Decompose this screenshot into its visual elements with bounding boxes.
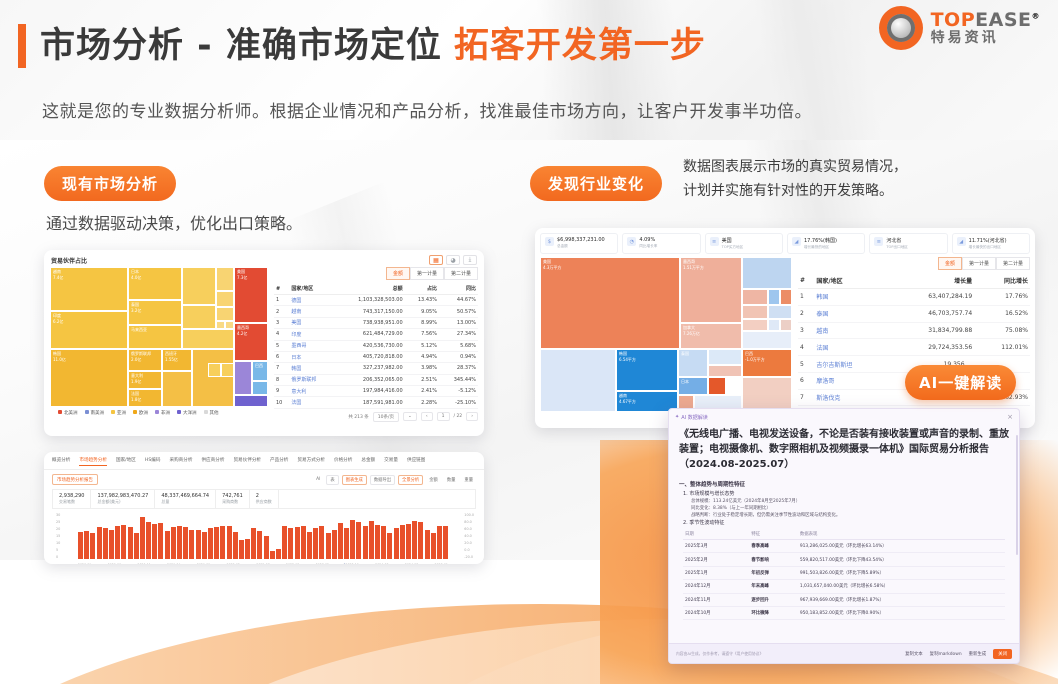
treemap-cell[interactable] bbox=[216, 291, 234, 307]
cell-data: 913,286,025.00美元（环比增长63.14%） bbox=[798, 540, 1005, 553]
col-feature: 特征 bbox=[749, 529, 797, 540]
tool-图表生成[interactable]: 图表生成 bbox=[342, 475, 367, 485]
cell-index: 8 bbox=[274, 374, 289, 385]
cell-country[interactable]: 法国 bbox=[814, 339, 887, 356]
table-row[interactable]: 1韩国63,407,284.1917.76% bbox=[798, 289, 1030, 306]
chart-icon: ◢ bbox=[957, 237, 966, 246]
x-tick: 2024-08 bbox=[405, 563, 418, 564]
y-tick: 30 bbox=[56, 513, 60, 517]
cell-share: 4.94% bbox=[405, 351, 439, 362]
measure-segmented-control[interactable]: 金额 第一计量 第二计量 bbox=[798, 257, 1030, 270]
treemap-cell-value: 4.0亿 bbox=[131, 275, 141, 280]
treemap-cell[interactable]: 马来西亚 bbox=[128, 325, 182, 349]
cell-feature: 逐步回升 bbox=[749, 593, 797, 606]
y-tick: 25 bbox=[56, 520, 60, 524]
footer-actions: 复制文本 复制markdown 重新生成 关闭 bbox=[905, 649, 1012, 659]
segment-first-measure[interactable]: 第一计量 bbox=[962, 257, 996, 270]
cell-country[interactable]: 美国 bbox=[289, 317, 332, 328]
badge-industry-change: 发现行业变化 bbox=[530, 166, 662, 201]
treemap-cell[interactable]: 墨西哥1.51万平方 bbox=[680, 257, 742, 323]
treemap-cell[interactable] bbox=[221, 363, 234, 377]
treemap-cell[interactable]: 加拿大7.26万亿 bbox=[680, 323, 742, 349]
copy-markdown-button[interactable]: 复制markdown bbox=[930, 651, 962, 657]
cell-total: 327,237,982.00 bbox=[333, 363, 405, 374]
tab-采购商分析[interactable]: 采购商分析 bbox=[169, 457, 192, 466]
tab-产品分析[interactable]: 产品分析 bbox=[270, 457, 288, 466]
filter-tag[interactable]: 市场趋势分析报告 bbox=[52, 474, 98, 485]
kpi-label: 增长最快的出口地区 bbox=[969, 245, 1001, 249]
treemap-cell[interactable] bbox=[216, 321, 225, 329]
ai-analysis-dialog[interactable]: ✦ AI 数据解读 × 《无线电广播、电视发送设备，不论是否装有接收装置或声音的… bbox=[668, 408, 1020, 664]
kpi-label: TOP出口地区 bbox=[886, 245, 908, 249]
cell-country[interactable]: 泰国 bbox=[814, 305, 887, 322]
close-button[interactable]: 关闭 bbox=[993, 649, 1012, 659]
cell-date: 2025年1月 bbox=[683, 566, 749, 579]
col-date: 日期 bbox=[683, 529, 749, 540]
logo-ring-icon bbox=[879, 6, 923, 50]
treemap-cell[interactable] bbox=[192, 349, 234, 407]
tool-AI[interactable]: AI bbox=[313, 476, 323, 483]
close-icon[interactable]: × bbox=[1007, 413, 1013, 421]
cell-index: 1 bbox=[798, 289, 814, 306]
cell-country[interactable]: 俄罗斯联邦 bbox=[289, 374, 332, 385]
y-tick: 10 bbox=[56, 541, 60, 545]
y-tick: 20 bbox=[56, 527, 60, 531]
cell-yoy-growth: 16.52% bbox=[974, 305, 1030, 322]
right-section-description: 数据图表展示市场的真实贸易情况， 计划并实施有针对性的开发策略。 bbox=[683, 155, 907, 203]
cell-total: 197,984,416.00 bbox=[333, 386, 405, 397]
tool-重量[interactable]: 重量 bbox=[461, 476, 476, 484]
cell-country[interactable]: 韩国 bbox=[814, 289, 887, 306]
treemap-cell[interactable] bbox=[234, 361, 252, 395]
treemap-cell-label: 马来西亚 bbox=[131, 327, 147, 332]
pager-prev[interactable]: ‹ bbox=[421, 412, 433, 421]
treemap-cell-label: 美国 bbox=[543, 259, 551, 264]
regenerate-button[interactable]: 重新生成 bbox=[969, 651, 987, 657]
cell-date: 2025年3月 bbox=[683, 540, 749, 553]
treemap-cell[interactable] bbox=[742, 377, 792, 412]
cell-total: 405,720,818.00 bbox=[333, 351, 405, 362]
table-row: 2025年3月春季高峰913,286,025.00美元（环比增长63.14%） bbox=[683, 540, 1005, 553]
logo-top-text: TOP bbox=[931, 9, 976, 31]
treemap-cell[interactable] bbox=[252, 381, 268, 395]
market-trend-panel[interactable]: 概览分析市场趋势分析国家/地区HS编码采购商分析供应商分析贸易伙伴分析产品分析贸… bbox=[44, 452, 484, 564]
pager-next[interactable]: › bbox=[466, 412, 478, 421]
kpi-card: $$6,998,337,231.00总金额 bbox=[540, 233, 618, 254]
tab-国家/地区[interactable]: 国家/地区 bbox=[116, 457, 136, 466]
cell-country[interactable]: 意大利 bbox=[289, 386, 332, 397]
cell-country[interactable]: 墨西哥 bbox=[289, 340, 332, 351]
ai-interpret-badge[interactable]: AI一键解读 bbox=[905, 365, 1016, 400]
kpi-card: ≡美国TOP买方地区 bbox=[705, 233, 783, 254]
table-row[interactable]: 1德国1,103,328,503.0013.43%44.67% bbox=[274, 295, 478, 306]
cell-data: 991,503,826.00美元（环比下降5.89%） bbox=[798, 566, 1005, 579]
treemap-cell-value: 1.8亿 bbox=[131, 397, 141, 402]
treemap-cell-label: 日本 bbox=[131, 269, 139, 274]
right-desc-line1: 数据图表展示市场的真实贸易情况， bbox=[683, 155, 907, 179]
cell-share: 2.28% bbox=[405, 397, 439, 408]
kpi-card-strip: $$6,998,337,231.00总金额◔4.09%同比增长率≡美国TOP买方… bbox=[535, 228, 1035, 257]
cell-index: 4 bbox=[274, 329, 289, 340]
pie-icon[interactable]: ◕ bbox=[446, 255, 460, 265]
treemap-cell[interactable]: 巴西-1.0万平方 bbox=[742, 349, 792, 377]
dialog-header: ✦ AI 数据解读 × bbox=[669, 409, 1019, 425]
tool-金额[interactable]: 金额 bbox=[426, 476, 441, 484]
tool-全景分析[interactable]: 全景分析 bbox=[398, 475, 423, 485]
legend-item: 南美洲 bbox=[85, 410, 105, 416]
table-row[interactable]: 9意大利197,984,416.002.41%-5.12% bbox=[274, 386, 478, 397]
table-row[interactable]: 6日本405,720,818.004.94%0.94% bbox=[274, 351, 478, 362]
report-title: 《无线电广播、电视发送设备，不论是否装有接收装置或声音的录制、重放装置；电视摄像… bbox=[669, 425, 1019, 476]
table-row[interactable]: 3美国738,938,951.008.99%13.00% bbox=[274, 317, 478, 328]
treemap-cell-label: 巴西 bbox=[745, 351, 753, 356]
table-header-row: 日期 特征 数据表现 bbox=[683, 529, 1005, 540]
segment-second-measure[interactable]: 第二计量 bbox=[444, 267, 478, 280]
treemap-cell[interactable] bbox=[768, 319, 780, 331]
legend-item: 大洋洲 bbox=[177, 410, 197, 416]
treemap-cell[interactable]: 日本4.0亿 bbox=[128, 267, 182, 300]
cell-date: 2024年12月 bbox=[683, 580, 749, 593]
report-bullet: 总体规模：113.24亿美元（2024年8月至2025年7月） bbox=[669, 497, 1019, 504]
cell-yoy: 44.67% bbox=[439, 295, 478, 306]
kpi-value: 河北省 bbox=[886, 237, 908, 244]
cell-yoy: 13.00% bbox=[439, 317, 478, 328]
trend-bar-chart[interactable]: 302520151050 100.080.060.040.020.00.0-20… bbox=[52, 511, 476, 564]
treemap-cell-value: 11.0亿 bbox=[53, 357, 66, 362]
cell-feature: 环比微降 bbox=[749, 606, 797, 619]
col-share: 占比 bbox=[405, 283, 439, 295]
treemap-cell-label: 墨西哥 bbox=[683, 259, 695, 264]
partner-table: # 国家/地区 总额 占比 同比 1德国1,103,328,503.0013.4… bbox=[274, 283, 478, 409]
legend-item: 北美洲 bbox=[58, 410, 78, 416]
cell-growth: 29,724,353.56 bbox=[887, 339, 974, 356]
treemap-cell-label: 法国 bbox=[131, 391, 139, 396]
x-tick: 2020-11 bbox=[137, 563, 150, 564]
cell-share: 7.56% bbox=[405, 329, 439, 340]
cell-yoy: 345.44% bbox=[439, 374, 478, 385]
cell-country[interactable]: 摩洛哥 bbox=[814, 372, 887, 389]
table-row[interactable]: 10法国187,591,981.002.28%-25.10% bbox=[274, 397, 478, 408]
cell-growth: 46,703,757.74 bbox=[887, 305, 974, 322]
col-data: 数据表现 bbox=[798, 529, 1005, 540]
treemap-cell[interactable]: 美国4.3万平方 bbox=[540, 257, 680, 349]
table-row[interactable]: 2越南743,317,150.009.05%50.57% bbox=[274, 306, 478, 317]
scrollbar[interactable] bbox=[1016, 435, 1018, 555]
y-tick: 0 bbox=[56, 555, 60, 559]
growth-treemap-chart[interactable]: 美国4.3万平方 墨西哥1.51万平方 加拿大7.26万亿 韩国6.54平方 越… bbox=[540, 257, 792, 412]
partner-table-wrap: 金额 第一计量 第二计量 # 国家/地区 总额 占比 同比 1德国1,103,3… bbox=[274, 267, 478, 422]
page-subtitle: 这就是您的专业数据分析师。根据企业情况和产品分析，找准最佳市场方向，让客户开发事… bbox=[42, 97, 812, 122]
table-row[interactable]: 4印度621,484,729.007.56%27.34% bbox=[274, 329, 478, 340]
chart-icon: ◢ bbox=[792, 237, 801, 246]
page-title: 市场分析 - 准确市场定位拓客开发第一步 bbox=[18, 24, 706, 68]
treemap-cell[interactable] bbox=[234, 395, 268, 407]
grid-icon[interactable]: ▦ bbox=[429, 255, 443, 265]
treemap-cell[interactable] bbox=[742, 257, 792, 289]
cell-data: 1,031,657,040.00美元（环比增长6.58%） bbox=[798, 580, 1005, 593]
kpi-label: 交易笔数 bbox=[59, 499, 75, 504]
tab-交易量[interactable]: 交易量 bbox=[384, 457, 398, 466]
cell-country[interactable]: 印度 bbox=[289, 329, 332, 340]
cell-feature: 春季高峰 bbox=[749, 540, 797, 553]
tab-价格分析[interactable]: 价格分析 bbox=[334, 457, 352, 466]
trend-line-overlay bbox=[78, 515, 448, 564]
table-row[interactable]: 4法国29,724,353.56112.01% bbox=[798, 339, 1030, 356]
kpi-item: 48,337,469,664.74总量 bbox=[155, 490, 216, 508]
y-tick: 60.0 bbox=[464, 527, 474, 531]
table-pager[interactable]: 共 213 条 10条/页 ⌄ ‹ 1 / 22 › bbox=[274, 409, 478, 422]
cell-country[interactable]: 越南 bbox=[814, 322, 887, 339]
cell-data: 950,183,852.00美元（环比下降0.90%） bbox=[798, 606, 1005, 619]
sparkle-icon: ✦ bbox=[675, 414, 679, 420]
cell-country[interactable]: 日本 bbox=[289, 351, 332, 362]
treemap-cell[interactable] bbox=[216, 267, 234, 291]
cell-index: 1 bbox=[274, 295, 289, 306]
page-header: 市场分析 - 准确市场定位拓客开发第一步 这就是您的专业数据分析师。根据企业情况… bbox=[0, 0, 1058, 140]
segment-first-measure[interactable]: 第一计量 bbox=[410, 267, 444, 280]
segment-second-measure[interactable]: 第二计量 bbox=[996, 257, 1030, 270]
cell-date: 2024年10月 bbox=[683, 606, 749, 619]
table-header-row: # 国家/地区 增长量 同比增长 bbox=[798, 273, 1030, 289]
treemap-cell-label: 墨西哥 bbox=[237, 325, 249, 330]
kpi-label: 增长最快的地区 bbox=[804, 245, 829, 249]
treemap-cell[interactable]: 美国7.3亿 bbox=[234, 267, 268, 323]
x-tick: 2020-06 bbox=[108, 563, 121, 564]
treemap-cell-value: -1.0万平方 bbox=[745, 357, 765, 362]
cell-total: 187,591,981.00 bbox=[333, 397, 405, 408]
tab-市场趋势分析[interactable]: 市场趋势分析 bbox=[79, 457, 107, 466]
cell-yoy-growth: 17.76% bbox=[974, 289, 1030, 306]
tool-数量[interactable]: 数量 bbox=[444, 476, 459, 484]
treemap-cell[interactable] bbox=[742, 331, 792, 349]
tab-贸易方式分析[interactable]: 贸易方式分析 bbox=[297, 457, 325, 466]
table-row[interactable]: 2泰国46,703,757.7416.52% bbox=[798, 305, 1030, 322]
tool-数据导出[interactable]: 数据导出 bbox=[370, 475, 395, 485]
treemap-cell-label: 越南 bbox=[53, 269, 61, 274]
treemap-cell[interactable]: 俄罗斯联邦2.0亿 bbox=[128, 349, 162, 371]
treemap-cell-label: 泰国 bbox=[681, 351, 689, 356]
cell-yoy: 27.34% bbox=[439, 329, 478, 340]
treemap-cell[interactable] bbox=[540, 349, 616, 412]
x-tick: 2023-10 bbox=[345, 563, 358, 564]
cell-yoy-growth: 75.08% bbox=[974, 322, 1030, 339]
treemap-cell[interactable] bbox=[162, 371, 192, 407]
measure-segmented-control[interactable]: 金额 第一计量 第二计量 bbox=[274, 267, 478, 280]
treemap-cell[interactable] bbox=[225, 321, 234, 329]
treemap-cell[interactable] bbox=[182, 267, 216, 305]
y-tick: -20.0 bbox=[464, 555, 474, 559]
y-tick: 20.0 bbox=[464, 541, 474, 545]
treemap-cell[interactable]: 越南7.4亿 bbox=[50, 267, 128, 311]
y-tick: 80.0 bbox=[464, 520, 474, 524]
treemap-cell[interactable] bbox=[182, 305, 216, 329]
cell-share: 5.12% bbox=[405, 340, 439, 351]
tab-概览分析[interactable]: 概览分析 bbox=[52, 457, 70, 466]
tool-表[interactable]: 表 bbox=[326, 475, 338, 485]
cell-feature: 年末高峰 bbox=[749, 580, 797, 593]
cell-index: 3 bbox=[274, 317, 289, 328]
cell-data: 559,820,517.00美元（环比下降43.54%） bbox=[798, 553, 1005, 566]
kpi-card: ◢11.71%(河北省)增长最快的出口地区 bbox=[952, 233, 1030, 254]
treemap-cell-label: 日本 bbox=[681, 379, 689, 384]
treemap-cell[interactable] bbox=[216, 307, 234, 321]
kpi-value: 美国 bbox=[722, 237, 744, 244]
cell-date: 2024年11月 bbox=[683, 593, 749, 606]
col-total: 总额 bbox=[333, 283, 405, 295]
col-country: 国家/地区 bbox=[814, 273, 887, 289]
treemap-cell[interactable]: 印度6.2亿 bbox=[50, 311, 128, 349]
treemap-cell-label: 巴西 bbox=[255, 363, 263, 368]
treemap-cell[interactable] bbox=[780, 289, 792, 305]
cell-country[interactable]: 越南 bbox=[289, 306, 332, 317]
table-row[interactable]: 3越南31,834,799.8875.08% bbox=[798, 322, 1030, 339]
treemap-cell[interactable]: 墨西哥4.2亿 bbox=[234, 323, 268, 361]
report-subsection-2: 2. 季节性波动特征 bbox=[669, 518, 1019, 526]
x-tick: 2022-02 bbox=[227, 563, 240, 564]
treemap-cell-value: 1.9亿 bbox=[131, 379, 141, 384]
treemap-cell[interactable]: 泰国 bbox=[678, 349, 708, 377]
cell-index: 9 bbox=[274, 386, 289, 397]
x-tick: 2021-04 bbox=[167, 563, 180, 564]
cell-country[interactable]: 法国 bbox=[289, 397, 332, 408]
x-tick: 2025-01 bbox=[435, 563, 448, 564]
title-accent-bar bbox=[18, 24, 26, 68]
segment-amount[interactable]: 金额 bbox=[386, 267, 410, 280]
treemap-cell[interactable] bbox=[182, 329, 234, 349]
y-axis-left: 302520151050 bbox=[56, 513, 60, 559]
treemap-cell[interactable] bbox=[742, 319, 768, 331]
table-row: 2024年10月环比微降950,183,852.00美元（环比下降0.90%） bbox=[683, 606, 1005, 619]
kpi-item: 2供应商数 bbox=[250, 490, 279, 508]
logo-registered-mark: ® bbox=[1032, 11, 1041, 20]
treemap-cell[interactable]: 法国1.8亿 bbox=[128, 389, 162, 407]
y-tick: 40.0 bbox=[464, 534, 474, 538]
tab-HS编码[interactable]: HS编码 bbox=[145, 457, 161, 466]
legend-item: 其他 bbox=[204, 410, 219, 416]
treemap-cell[interactable] bbox=[768, 289, 780, 305]
cell-index: 6 bbox=[798, 372, 814, 389]
treemap-cell[interactable] bbox=[708, 377, 726, 395]
treemap-cell[interactable]: 西班牙1.55亿 bbox=[162, 349, 192, 371]
tab-供应商分析[interactable]: 供应商分析 bbox=[201, 457, 224, 466]
table-row[interactable]: 8俄罗斯联邦206,352,065.002.51%345.44% bbox=[274, 374, 478, 385]
chevron-down-icon[interactable]: ⌄ bbox=[403, 412, 417, 421]
tab-供应链图[interactable]: 供应链图 bbox=[407, 457, 425, 466]
tab-总金额[interactable]: 总金额 bbox=[361, 457, 375, 466]
treemap-cell[interactable]: 韩国6.54平方 bbox=[616, 349, 678, 391]
kpi-label: 供应商数 bbox=[256, 499, 272, 504]
treemap-cell[interactable]: 意大利1.9亿 bbox=[128, 371, 162, 389]
x-tick: 2022-07 bbox=[256, 563, 269, 564]
x-tick: 2020-01 bbox=[78, 563, 91, 564]
kpi-strip: 2,938,290交易笔数137,982,983,470.27总金额(美元)48… bbox=[52, 489, 476, 509]
treemap-cell[interactable] bbox=[742, 305, 768, 319]
treemap-chart[interactable]: 越南7.4亿 印度6.2亿 韩国11.0亿 日本4.0亿 泰国3.2亿 马来西亚… bbox=[50, 267, 268, 407]
cell-country[interactable]: 德国 bbox=[289, 295, 332, 306]
cell-total: 1,103,328,503.00 bbox=[333, 295, 405, 306]
treemap-cell[interactable] bbox=[708, 365, 742, 377]
cell-total: 621,484,729.00 bbox=[333, 329, 405, 340]
cell-yoy: -25.10% bbox=[439, 397, 478, 408]
cell-share: 2.51% bbox=[405, 374, 439, 385]
dollar-icon: $ bbox=[545, 237, 554, 246]
cell-yoy: 50.57% bbox=[439, 306, 478, 317]
treemap-cell-value: 1.51万平方 bbox=[683, 265, 704, 270]
kpi-value: 17.76%(韩国) bbox=[804, 237, 837, 244]
cell-country[interactable]: 韩国 bbox=[289, 363, 332, 374]
logo-cn-text: 特易资讯 bbox=[931, 31, 1040, 46]
treemap-cell[interactable]: 泰国3.2亿 bbox=[128, 300, 182, 325]
treemap-cell[interactable] bbox=[208, 363, 221, 377]
cell-growth: 31,834,799.88 bbox=[887, 322, 974, 339]
trade-partner-share-panel[interactable]: 贸易伙伴占比 ▦ ◕ ⤓ 越南7.4亿 印度6.2亿 韩国11.0亿 日本4.0… bbox=[44, 250, 484, 436]
cell-country[interactable]: 斯洛伐克 bbox=[814, 389, 887, 406]
right-desc-line2: 计划并实施有针对性的开发策略。 bbox=[683, 179, 907, 203]
download-icon[interactable]: ⤓ bbox=[463, 255, 477, 265]
treemap-cell-label: 俄罗斯联邦 bbox=[131, 351, 151, 356]
panel-tabs[interactable]: 概览分析市场趋势分析国家/地区HS编码采购商分析供应商分析贸易伙伴分析产品分析贸… bbox=[44, 452, 484, 470]
segment-amount[interactable]: 金额 bbox=[938, 257, 962, 270]
cell-yoy: 28.37% bbox=[439, 363, 478, 374]
title-accent-text: 拓客开发第一步 bbox=[454, 26, 706, 66]
treemap-cell[interactable] bbox=[768, 305, 792, 319]
dialog-title-label: ✦ AI 数据解读 bbox=[675, 414, 708, 421]
cell-feature: 春节影响 bbox=[749, 553, 797, 566]
treemap-cell-label: 美国 bbox=[237, 269, 245, 274]
treemap-cell[interactable] bbox=[780, 319, 792, 331]
treemap-cell-label: 意大利 bbox=[131, 373, 143, 378]
table-row[interactable]: 5墨西哥420,536,730.005.12%5.68% bbox=[274, 340, 478, 351]
report-table: 日期 特征 数据表现 2025年3月春季高峰913,286,025.00美元（环… bbox=[683, 529, 1005, 620]
treemap-cell-value: 7.26万亿 bbox=[683, 331, 700, 336]
treemap-cell[interactable]: 日本 bbox=[678, 377, 708, 395]
treemap-cell-value: 3.2亿 bbox=[131, 308, 141, 313]
treemap-cell[interactable] bbox=[742, 289, 768, 305]
treemap-cell-value: 6.2亿 bbox=[53, 319, 63, 324]
tab-贸易伙伴分析[interactable]: 贸易伙伴分析 bbox=[233, 457, 261, 466]
cell-yoy: 5.68% bbox=[439, 340, 478, 351]
y-axis-right: 100.080.060.040.020.00.0-20.0 bbox=[464, 513, 474, 559]
treemap-cell-label: 韩国 bbox=[619, 351, 627, 356]
report-section-1: 一、整体趋势与周期性特征 bbox=[669, 476, 1019, 489]
cell-feature: 年初反弹 bbox=[749, 566, 797, 579]
col-growth: 增长量 bbox=[887, 273, 974, 289]
kpi-label: TOP买方地区 bbox=[722, 245, 744, 249]
copy-text-button[interactable]: 复制文本 bbox=[905, 651, 923, 657]
treemap-cell[interactable] bbox=[708, 349, 742, 365]
pager-current[interactable]: 1 bbox=[437, 412, 450, 421]
panel-header: 贸易伙伴占比 ▦ ◕ ⤓ bbox=[44, 250, 484, 267]
treemap-cell[interactable]: 韩国11.0亿 bbox=[50, 349, 128, 407]
treemap-cell[interactable]: 巴西 bbox=[252, 361, 268, 381]
kpi-item: 137,982,983,470.27总金额(美元) bbox=[91, 490, 155, 508]
table-row[interactable]: 7韩国327,237,982.003.98%28.37% bbox=[274, 363, 478, 374]
y-tick: 15 bbox=[56, 534, 60, 538]
cell-country[interactable]: 吉尔吉斯斯坦 bbox=[814, 356, 887, 373]
treemap-legend: 北美洲 南美洲 亚洲 欧洲 非洲 大洋洲 其他 bbox=[50, 407, 268, 416]
cell-yoy-growth: 112.01% bbox=[974, 339, 1030, 356]
table-row: 2025年1月年初反弹991,503,826.00美元（环比下降5.89%） bbox=[683, 566, 1005, 579]
y-tick: 5 bbox=[56, 548, 60, 552]
pager-page-size[interactable]: 10条/页 bbox=[373, 412, 399, 422]
treemap-cell-value: 4.67平方 bbox=[619, 399, 636, 404]
col-country: 国家/地区 bbox=[289, 283, 332, 295]
treemap-cell-value: 4.2亿 bbox=[237, 331, 247, 336]
cell-index: 7 bbox=[274, 363, 289, 374]
cell-index: 2 bbox=[798, 305, 814, 322]
panel-tools[interactable]: AI表图表生成数据导出全景分析金额数量重量 bbox=[313, 475, 476, 485]
cell-data: 967,939,669.00美元（环比增长1.87%） bbox=[798, 593, 1005, 606]
